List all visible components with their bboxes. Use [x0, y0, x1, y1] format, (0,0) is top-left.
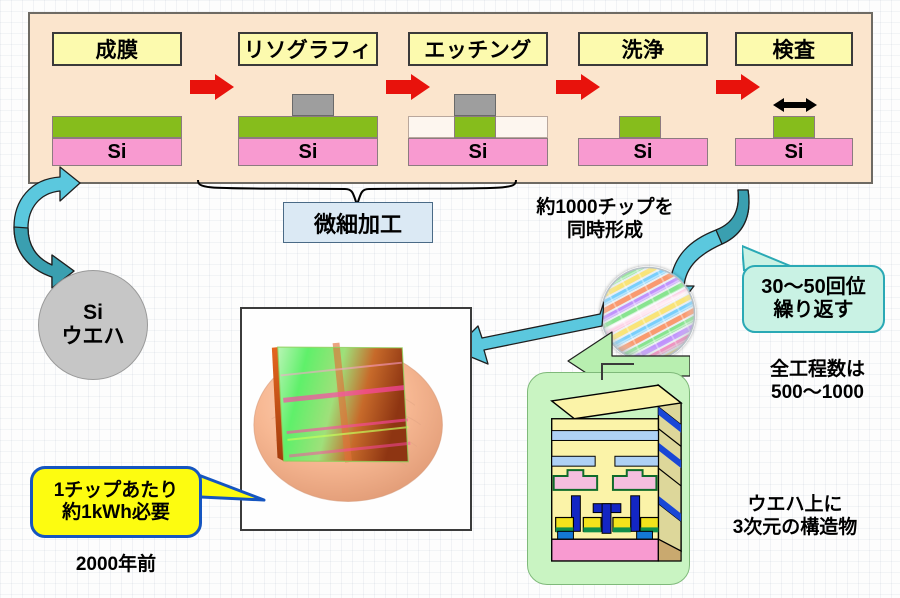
substrate-etching: Si: [408, 138, 548, 166]
energy-callout-caption: 2000年前: [30, 553, 202, 576]
total-process-steps-line2: 500〜1000: [740, 381, 895, 404]
resist-pattern-lithography: [292, 94, 334, 116]
total-process-steps-note: 全工程数は 500〜1000: [740, 358, 895, 404]
repeat-count-line1: 30〜50回位: [761, 276, 866, 299]
substrate-inspection: Si: [735, 138, 853, 166]
flow-arrow-2-icon: [386, 74, 430, 100]
micro-fabrication-label: 微細加工: [314, 207, 402, 239]
film-pillar-cleaning: [619, 116, 661, 138]
structure-note-line2: 3次元の構造物: [700, 516, 890, 539]
step-label-cleaning[interactable]: 洗浄: [578, 32, 708, 66]
flow-arrow-4-icon: [716, 74, 760, 100]
flow-arrow-1-icon: [190, 74, 234, 100]
repeat-count-callout: 30〜50回位 繰り返す: [742, 265, 885, 333]
structure-note-line1: ウエハ上に: [700, 493, 890, 516]
step-label-etching[interactable]: エッチング: [408, 32, 548, 66]
step-label-deposition[interactable]: 成膜: [52, 32, 182, 66]
process-flow-panel: 成膜 Si リソグラフィ Si エッチング Si 洗浄 Si 検査 Si: [28, 12, 873, 184]
si-wafer-label-line1: Si: [83, 301, 103, 325]
repeat-count-line2: 繰り返す: [774, 299, 854, 322]
chip-on-fingertip-photo: [240, 307, 472, 531]
si-wafer-circle: Si ウエハ: [38, 270, 148, 380]
film-pillar-etching: [454, 116, 496, 138]
si-wafer-label-line2: ウエハ: [62, 325, 125, 349]
step-label-inspection[interactable]: 検査: [735, 32, 853, 66]
three-dimensional-structure-note: ウエハ上に 3次元の構造物: [700, 493, 890, 539]
energy-per-chip-line1: 1チップあたり: [54, 480, 179, 502]
structure-card-pointer: [600, 360, 636, 382]
measurement-double-arrow-icon: [773, 98, 817, 112]
substrate-cleaning: Si: [578, 138, 708, 166]
step-label-lithography[interactable]: リソグラフィ: [238, 32, 378, 66]
flow-arrow-3-icon: [556, 74, 600, 100]
film-pillar-inspection: [773, 116, 815, 138]
substrate-lithography: Si: [238, 138, 378, 166]
energy-per-chip-callout: 1チップあたり 約1kWh必要: [30, 466, 202, 538]
resist-pattern-etching: [454, 94, 496, 116]
film-layer-deposition: [52, 116, 182, 138]
substrate-deposition: Si: [52, 138, 182, 166]
micro-fabrication-box: 微細加工: [283, 202, 433, 243]
film-layer-lithography: [238, 116, 378, 138]
total-process-steps-line1: 全工程数は: [740, 358, 895, 381]
energy-per-chip-line2: 約1kWh必要: [62, 502, 170, 524]
chip-cross-section-card: [527, 372, 690, 585]
